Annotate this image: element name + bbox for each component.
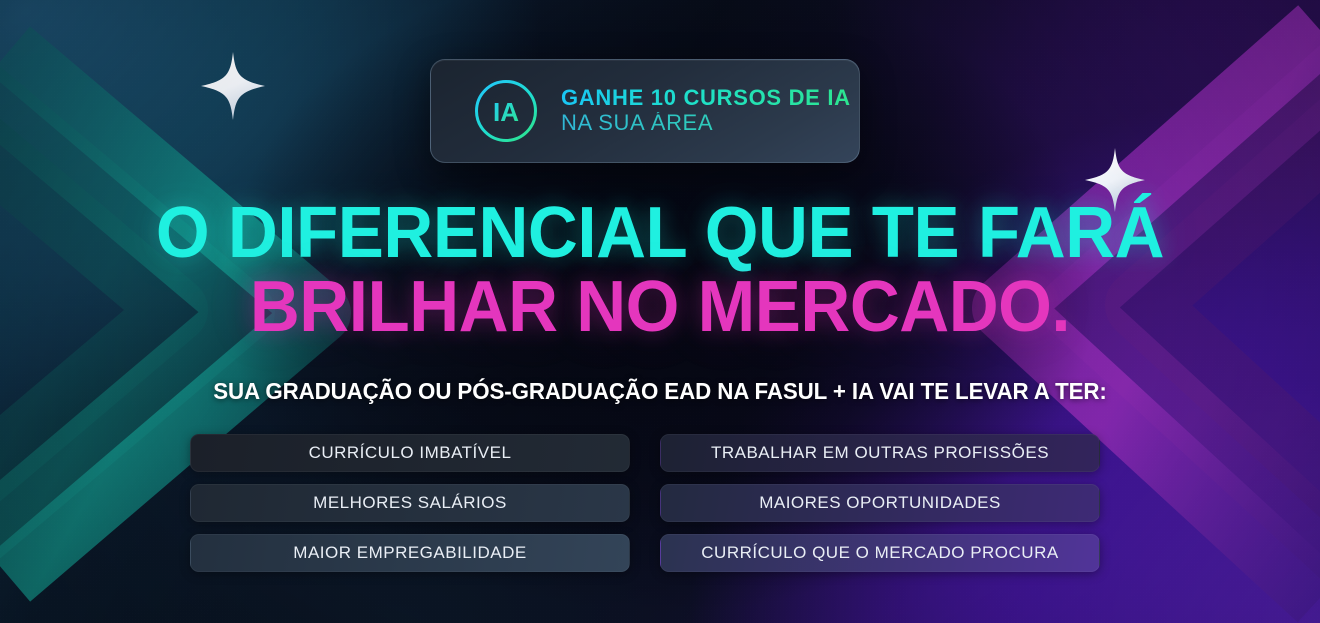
benefits-grid: CURRÍCULO IMBATÍVEL TRABALHAR EM OUTRAS … — [190, 434, 1100, 572]
ia-label: IA — [493, 97, 519, 127]
benefit-pill[interactable]: MAIOR EMPREGABILIDADE — [190, 534, 630, 572]
benefit-pill[interactable]: MAIORES OPORTUNIDADES — [660, 484, 1100, 522]
promo-banner: IA GANHE 10 CURSOS DE IA NA SUA ÁREA O D… — [0, 0, 1320, 623]
benefit-pill[interactable]: CURRÍCULO QUE O MERCADO PROCURA — [660, 534, 1100, 572]
benefit-pill[interactable]: CURRÍCULO IMBATÍVEL — [190, 434, 630, 472]
ai-courses-badge[interactable]: IA GANHE 10 CURSOS DE IA NA SUA ÁREA — [430, 59, 860, 163]
ia-circle-icon: IA — [473, 78, 539, 144]
badge-headline: GANHE 10 CURSOS DE IA — [561, 87, 851, 110]
benefit-pill[interactable]: TRABALHAR EM OUTRAS PROFISSÕES — [660, 434, 1100, 472]
page-title: O DIFERENCIAL QUE TE FARÁ BRILHAR NO MER… — [26, 198, 1293, 342]
headline-line-1: O DIFERENCIAL QUE TE FARÁ — [26, 198, 1293, 268]
benefit-pill[interactable]: MELHORES SALÁRIOS — [190, 484, 630, 522]
headline-line-2: BRILHAR NO MERCADO. — [26, 272, 1293, 342]
subtitle: SUA GRADUAÇÃO OU PÓS-GRADUAÇÃO EAD NA FA… — [20, 378, 1300, 405]
badge-subheadline: NA SUA ÁREA — [561, 112, 851, 135]
